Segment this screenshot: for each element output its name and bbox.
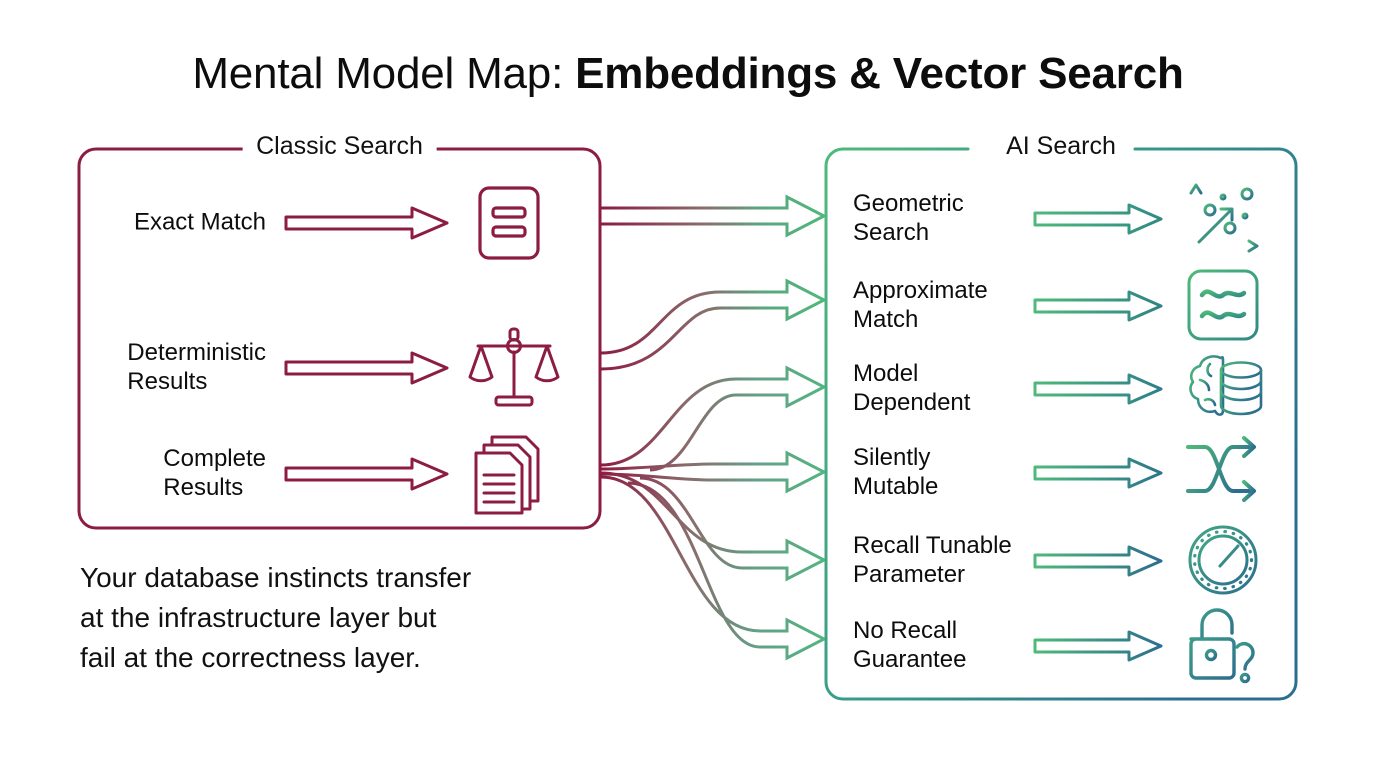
unlocked-padlock-question-icon (1185, 607, 1265, 685)
arrow-right-outline-no-recall (1033, 631, 1163, 661)
document-lines-icon-svg (468, 182, 550, 264)
brain-database-icon-svg (1185, 350, 1265, 426)
row-label-complete-results: Complete Results (163, 444, 266, 502)
brain-database-icon (1185, 350, 1265, 426)
connector-complete-to-silently-mutable (601, 453, 824, 491)
stacked-documents-icon-svg (468, 433, 554, 517)
classic-search-legend: Classic Search (242, 129, 437, 163)
row-label-recall-tunable-parameter: Recall Tunable Parameter (853, 531, 1012, 589)
connector-complete-to-no-recall (601, 477, 824, 658)
arrow-right-outline-exact-match (284, 207, 449, 239)
connector-deterministic-to-approximate (601, 281, 824, 369)
arrow-right-outline-icon (1033, 458, 1163, 488)
document-lines-icon (468, 182, 550, 264)
row-label-exact-match: Exact Match (134, 208, 266, 237)
row-label-geometric-search: Geometric Search (853, 189, 964, 247)
connector-exact-to-geometric (601, 197, 824, 235)
row-label-deterministic-results: Deterministic Results (127, 338, 266, 396)
arrow-right-outline-recall-tunable (1033, 546, 1163, 576)
row-label-no-recall-guarantee: No Recall Guarantee (853, 616, 966, 674)
unlocked-padlock-question-icon-svg (1185, 607, 1265, 685)
arrow-right-outline-approximate (1033, 291, 1163, 321)
gauge-dial-icon (1185, 522, 1263, 598)
arrow-right-outline-icon (1033, 374, 1163, 404)
arrow-right-outline-model (1033, 374, 1163, 404)
arrow-right-outline-complete (284, 458, 449, 490)
shuffle-arrows-icon (1185, 434, 1265, 504)
approx-waves-icon-svg (1185, 267, 1261, 343)
caption-text: Your database instincts transfer at the … (80, 558, 620, 678)
ai-search-legend: AI Search (992, 129, 1130, 163)
arrow-right-outline-icon (1033, 546, 1163, 576)
balance-scales-icon-svg (468, 327, 560, 413)
arrow-right-outline-icon (284, 352, 449, 384)
arrow-right-outline-silently-mutable (1033, 458, 1163, 488)
arrow-right-outline-icon (1033, 204, 1163, 234)
arrow-right-outline-geometric (1033, 204, 1163, 234)
gauge-dial-icon-svg (1185, 522, 1263, 598)
row-label-silently-mutable: Silently Mutable (853, 443, 938, 501)
scatter-plot-icon (1185, 180, 1265, 256)
arrow-right-outline-deterministic (284, 352, 449, 384)
balance-scales-icon (468, 327, 560, 413)
approx-waves-icon (1185, 267, 1261, 343)
scatter-plot-icon-svg (1185, 180, 1265, 256)
stacked-documents-icon (468, 433, 554, 517)
row-label-approximate-match: Approximate Match (853, 276, 988, 334)
arrow-right-outline-icon (1033, 631, 1163, 661)
diagram-canvas: Mental Model Map: Embeddings & Vector Se… (0, 0, 1376, 768)
row-label-model-dependent: Model Dependent (853, 359, 970, 417)
arrow-right-outline-icon (284, 458, 449, 490)
arrow-right-outline-icon (284, 207, 449, 239)
shuffle-arrows-icon-svg (1185, 434, 1265, 504)
arrow-right-outline-icon (1033, 291, 1163, 321)
